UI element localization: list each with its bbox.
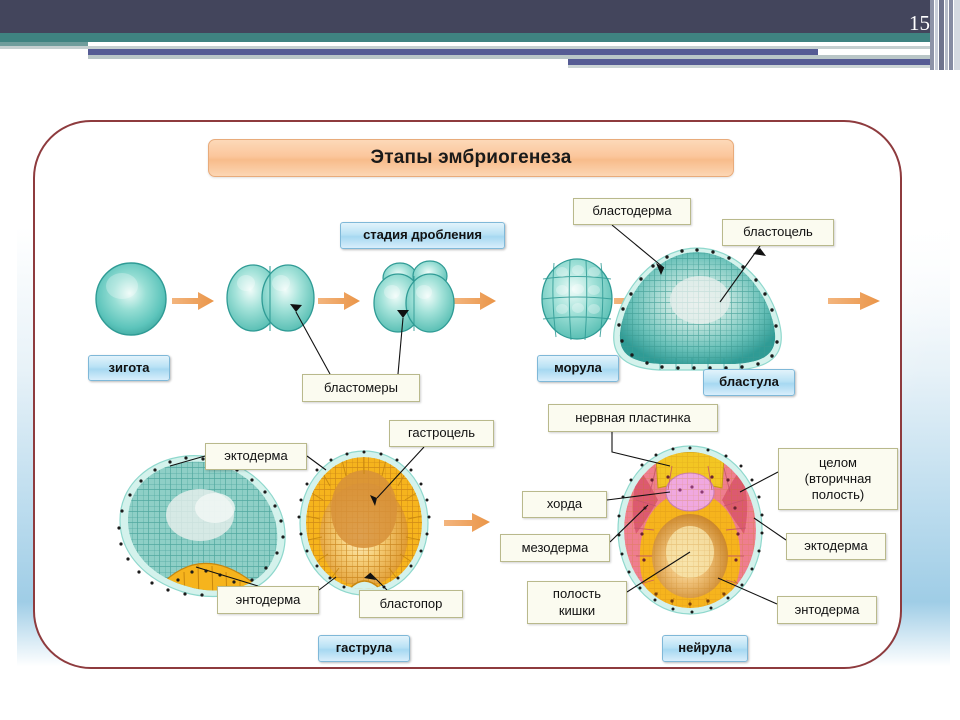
slide: 15 xyxy=(0,0,960,720)
stage-chip-cleavage[interactable]: стадия дробления xyxy=(340,222,505,249)
stage-chip-gastrula[interactable]: гаструла xyxy=(318,635,410,662)
annotation-blastoderm[interactable]: бластодерма xyxy=(573,198,691,225)
stage-chip-neurula[interactable]: нейрула xyxy=(662,635,748,662)
annotation-blastocoel[interactable]: бластоцель xyxy=(722,219,834,246)
header-gray-rule-3 xyxy=(568,65,930,68)
annotation-neural-plate[interactable]: нервная пластинка xyxy=(548,404,718,432)
annotation-gastrocoel[interactable]: гастроцель xyxy=(389,420,494,447)
annotation-mesoderm[interactable]: мезодерма xyxy=(500,534,610,562)
page-number: 15 xyxy=(896,10,930,36)
annotation-gut-cavity[interactable]: полость кишки xyxy=(527,581,627,624)
annotation-coelom[interactable]: целом (вторичная полость) xyxy=(778,448,898,510)
header-dark-band xyxy=(0,0,930,33)
annotation-chord[interactable]: хорда xyxy=(522,491,607,518)
annotation-blastopore[interactable]: бластопор xyxy=(359,590,463,618)
annotation-ectoderm-neurula[interactable]: эктодерма xyxy=(786,533,886,560)
annotation-entoderm-gastrula[interactable]: энтодерма xyxy=(217,586,319,614)
header-stripes xyxy=(930,0,960,70)
annotation-blastomeres[interactable]: бластомеры xyxy=(302,374,420,402)
stage-chip-zygote[interactable]: зигота xyxy=(88,355,170,381)
annotation-entoderm-neurula[interactable]: энтодерма xyxy=(777,596,877,624)
stage-chip-blastula[interactable]: бластула xyxy=(703,369,795,396)
annotation-ectoderm-gastrula[interactable]: эктодерма xyxy=(205,443,307,470)
header-teal-band xyxy=(0,33,930,42)
figure-title: Этапы эмбриогенеза xyxy=(208,139,734,177)
stage-chip-morula[interactable]: морула xyxy=(537,355,619,382)
